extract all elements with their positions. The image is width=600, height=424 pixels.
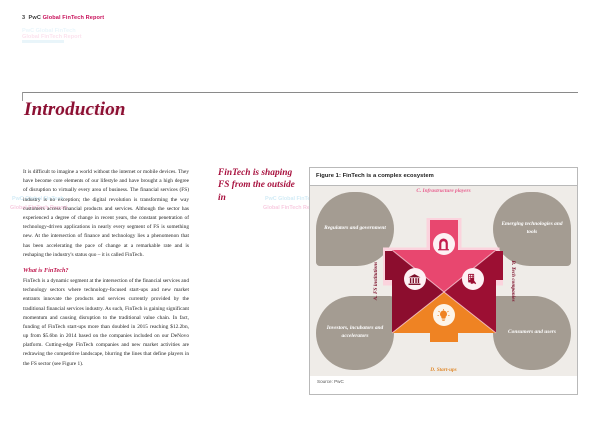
axis-label-infrastructure-players: C. Infrastructure players	[416, 188, 470, 195]
figure-panel: Figure 1: FinTech is a complex ecosystem…	[309, 167, 578, 395]
report-name: Global FinTech Report	[43, 15, 105, 21]
tech-mobile-hand-icon	[462, 268, 484, 290]
bubble-label: Emerging technologies and tools	[499, 221, 565, 237]
bubble-label: Investors, incubators and accelerators	[322, 325, 388, 341]
subsection-heading: What is FinTech?	[23, 267, 189, 275]
bank-institution-icon	[404, 268, 426, 290]
startup-lightbulb-icon	[433, 304, 455, 326]
page-header: 3 PwC Global FinTech Report	[22, 15, 104, 21]
bubble-emerging-technologies: Emerging technologies and tools	[493, 192, 571, 266]
pull-quote: FinTech is shaping FS from the outside i…	[218, 167, 298, 204]
ghost-underline-artifact	[22, 40, 64, 43]
page-title: Introduction	[24, 99, 126, 121]
paragraph-intro: It is difficult to imagine a world witho…	[23, 168, 189, 260]
arch-glyph	[437, 238, 450, 251]
lightbulb-glyph	[437, 309, 450, 322]
section-divider-tick	[22, 92, 23, 101]
page-number: 3	[22, 15, 25, 21]
section-divider-rule	[22, 92, 578, 93]
figure-source-note: Source: PwC	[317, 379, 344, 384]
mobile-hand-glyph	[466, 273, 479, 286]
axis-label-fs-institutions: A. FS institutions	[373, 262, 380, 300]
figure-title: Figure 1: FinTech is a complex ecosystem	[316, 173, 434, 179]
bubble-consumers-and-users: Consumers and users	[493, 296, 571, 370]
ecosystem-cross-diagram	[383, 218, 505, 344]
brand-name: PwC	[29, 15, 41, 21]
paragraph-what-is-fintech: FinTech is a dynamic segment at the inte…	[23, 277, 189, 369]
axis-label-tech-companies: B. Tech companies	[509, 260, 516, 301]
bank-glyph	[408, 273, 421, 286]
bubble-label: Consumers and users	[508, 329, 556, 337]
figure-canvas: Regulators and government Emerging techn…	[310, 186, 577, 376]
infrastructure-arch-icon	[433, 233, 455, 255]
axis-label-start-ups: D. Start-ups	[430, 367, 457, 374]
article-body: It is difficult to imagine a world witho…	[23, 168, 189, 376]
bubble-label: Regulators and government	[324, 225, 386, 233]
